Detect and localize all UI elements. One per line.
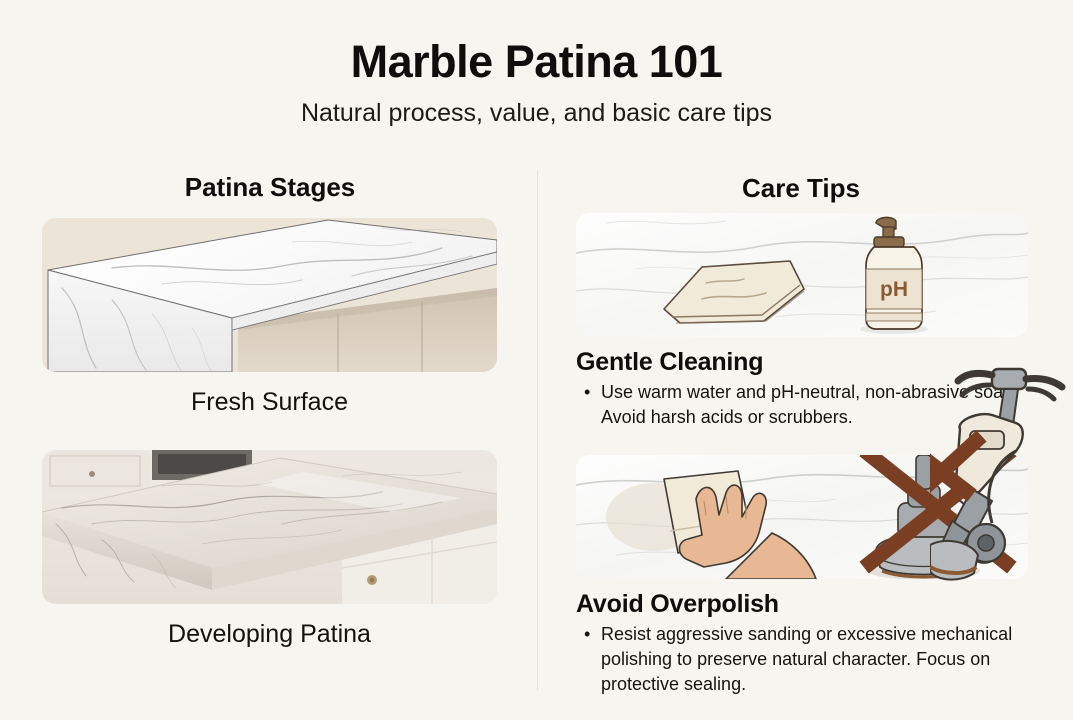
page-title: Marble Patina 101	[0, 36, 1073, 88]
care-tip-title-gentle-cleaning: Gentle Cleaning	[576, 348, 1036, 377]
section-heading-care-tips: Care Tips	[576, 173, 1026, 204]
care-tip-bullet: Resist aggressive sanding or excessive m…	[576, 622, 1036, 697]
care-tip-bullets-avoid-overpolish: Resist aggressive sanding or excessive m…	[576, 622, 1036, 697]
infographic-page: Marble Patina 101 Natural process, value…	[0, 0, 1073, 720]
ph-bottle-label: pH	[880, 278, 908, 301]
care-tip-gentle-cleaning: Gentle Cleaning Use warm water and pH-ne…	[576, 348, 1036, 430]
page-subtitle: Natural process, value, and basic care t…	[0, 99, 1073, 128]
care-tip-image-gentle-cleaning: pH	[576, 213, 1028, 337]
care-tip-image-avoid-overpolish	[576, 455, 1028, 579]
care-tip-bullet: Use warm water and pH-neutral, non-abras…	[576, 380, 1036, 430]
developing-patina-countertop-photo	[42, 450, 497, 604]
care-tip-title-avoid-overpolish: Avoid Overpolish	[576, 590, 1036, 619]
patina-stage-image-fresh-surface	[42, 218, 497, 372]
patina-stage-image-developing-patina	[42, 450, 497, 604]
section-heading-patina-stages: Patina Stages	[40, 172, 500, 203]
cloth-and-ph-soap-bottle-illustration: pH	[576, 213, 1028, 337]
fresh-marble-countertop-illustration	[42, 218, 497, 372]
hand-wiping-and-crossed-out-floor-polisher-illustration	[576, 455, 1028, 579]
care-tip-bullets-gentle-cleaning: Use warm water and pH-neutral, non-abras…	[576, 380, 1036, 430]
care-tip-avoid-overpolish: Avoid Overpolish Resist aggressive sandi…	[576, 590, 1036, 697]
patina-stage-caption-developing-patina: Developing Patina	[42, 620, 497, 649]
patina-stage-caption-fresh-surface: Fresh Surface	[42, 388, 497, 417]
column-divider	[537, 170, 538, 690]
